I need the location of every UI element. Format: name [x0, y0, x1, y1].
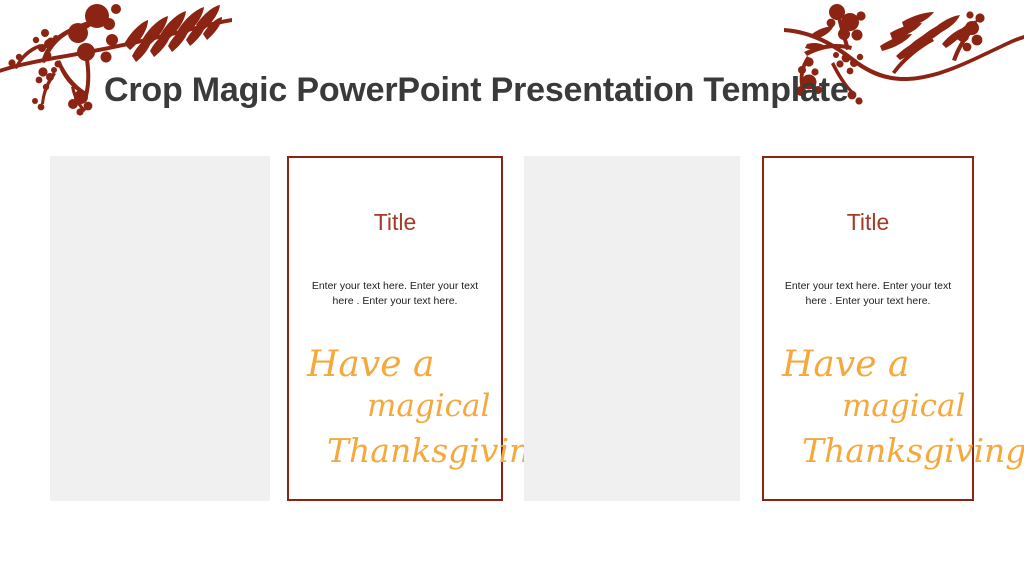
script-line-have-a: Have a: [782, 347, 909, 383]
page-title: Crop Magic PowerPoint Presentation Templ…: [104, 72, 849, 109]
panel-row: Title Enter your text here. Enter your t…: [0, 156, 1024, 501]
card-title: Title: [374, 211, 417, 234]
script-line-have-a: Have a: [307, 347, 434, 383]
card-body-text: Enter your text here. Enter your text he…: [305, 279, 485, 309]
script-greeting: Have a magical Thanksgiving: [764, 341, 972, 471]
script-line-magical: magical: [842, 391, 965, 422]
card-title: Title: [847, 211, 890, 234]
image-placeholder-1[interactable]: [50, 156, 270, 501]
slide-canvas: Crop Magic PowerPoint Presentation Templ…: [0, 0, 1024, 576]
content-card-1[interactable]: Title Enter your text here. Enter your t…: [287, 156, 503, 501]
script-greeting: Have a magical Thanksgiving: [289, 341, 501, 471]
script-line-magical: magical: [367, 391, 490, 422]
content-card-2[interactable]: Title Enter your text here. Enter your t…: [762, 156, 974, 501]
script-line-thanksgiving: Thanksgiving: [802, 434, 1024, 467]
card-body-text: Enter your text here. Enter your text he…: [778, 279, 958, 309]
script-line-thanksgiving: Thanksgiving: [327, 434, 551, 467]
image-placeholder-2[interactable]: [524, 156, 740, 501]
